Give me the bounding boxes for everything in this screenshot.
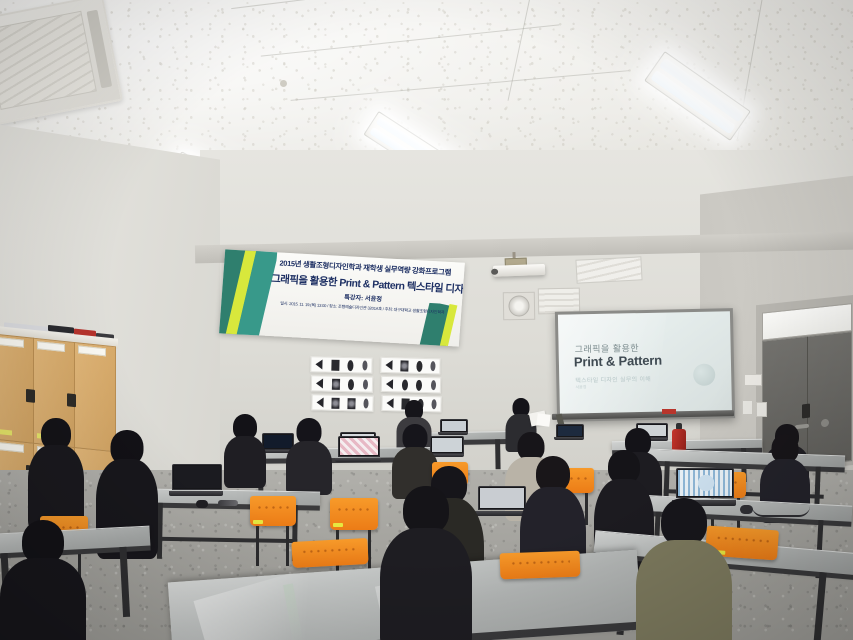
chair[interactable] bbox=[250, 496, 296, 526]
wall-outlet[interactable] bbox=[744, 374, 762, 386]
poster-sheet bbox=[311, 375, 373, 393]
slide-title: Print & Pattern bbox=[574, 353, 662, 370]
laptop[interactable] bbox=[440, 419, 466, 435]
slide-decoration-circle bbox=[693, 364, 715, 386]
cable bbox=[752, 506, 810, 517]
handout-paper bbox=[536, 413, 550, 426]
chair[interactable] bbox=[330, 498, 378, 530]
event-banner: 2015년 생활조형디자인학과 재학생 실무역량 강화프로그램 그래픽을 활용한… bbox=[219, 249, 465, 346]
student bbox=[28, 418, 84, 528]
student bbox=[636, 498, 732, 640]
eyeglasses bbox=[218, 500, 238, 506]
wall-vent bbox=[538, 288, 580, 315]
laptop[interactable] bbox=[172, 464, 220, 496]
student bbox=[380, 486, 472, 640]
laptop[interactable] bbox=[556, 424, 582, 440]
slide-byline: 서윤정 bbox=[575, 384, 586, 390]
cabinet-keyhole-icon[interactable] bbox=[26, 389, 35, 403]
wall-poster-grid bbox=[309, 356, 460, 412]
poster-sheet bbox=[380, 357, 440, 374]
cabinet-sticker bbox=[0, 429, 12, 436]
laptop[interactable] bbox=[478, 486, 524, 516]
laptop-design-software[interactable] bbox=[338, 436, 378, 462]
mouse[interactable] bbox=[196, 500, 208, 508]
student bbox=[286, 418, 332, 492]
poster-sheet bbox=[311, 394, 373, 412]
chair[interactable] bbox=[291, 538, 368, 568]
chair[interactable] bbox=[500, 551, 581, 580]
ceiling-smoke-detector bbox=[280, 80, 287, 87]
door-knob-icon[interactable] bbox=[821, 419, 829, 428]
student bbox=[224, 414, 266, 486]
door-lock-icon[interactable] bbox=[802, 403, 810, 418]
light-switch[interactable] bbox=[742, 400, 753, 415]
poster-sheet bbox=[310, 356, 372, 374]
wall-speaker-icon bbox=[503, 292, 535, 321]
banner-ribbon-left bbox=[219, 249, 277, 336]
extinguisher-sign bbox=[662, 409, 676, 414]
light-switch[interactable] bbox=[756, 402, 767, 417]
ceiling-vent bbox=[575, 256, 642, 283]
student bbox=[0, 520, 86, 640]
slide-subtitle: 텍스타일 디자인 실무의 이해 bbox=[575, 374, 651, 385]
poster-sheet bbox=[381, 376, 441, 393]
fire-extinguisher-icon bbox=[672, 423, 686, 451]
classroom-photo: 2015년 생활조형디자인학과 재학생 실무역량 강화프로그램 그래픽을 활용한… bbox=[0, 0, 853, 640]
projected-slide: 그래픽을 활용한 Print & Pattern 텍스타일 디자인 실무의 이해… bbox=[558, 311, 732, 419]
projection-screen: 그래픽을 활용한 Print & Pattern 텍스타일 디자인 실무의 이해… bbox=[555, 308, 735, 422]
projector-icon bbox=[487, 257, 546, 279]
cabinet-keyhole-icon[interactable] bbox=[67, 393, 76, 407]
